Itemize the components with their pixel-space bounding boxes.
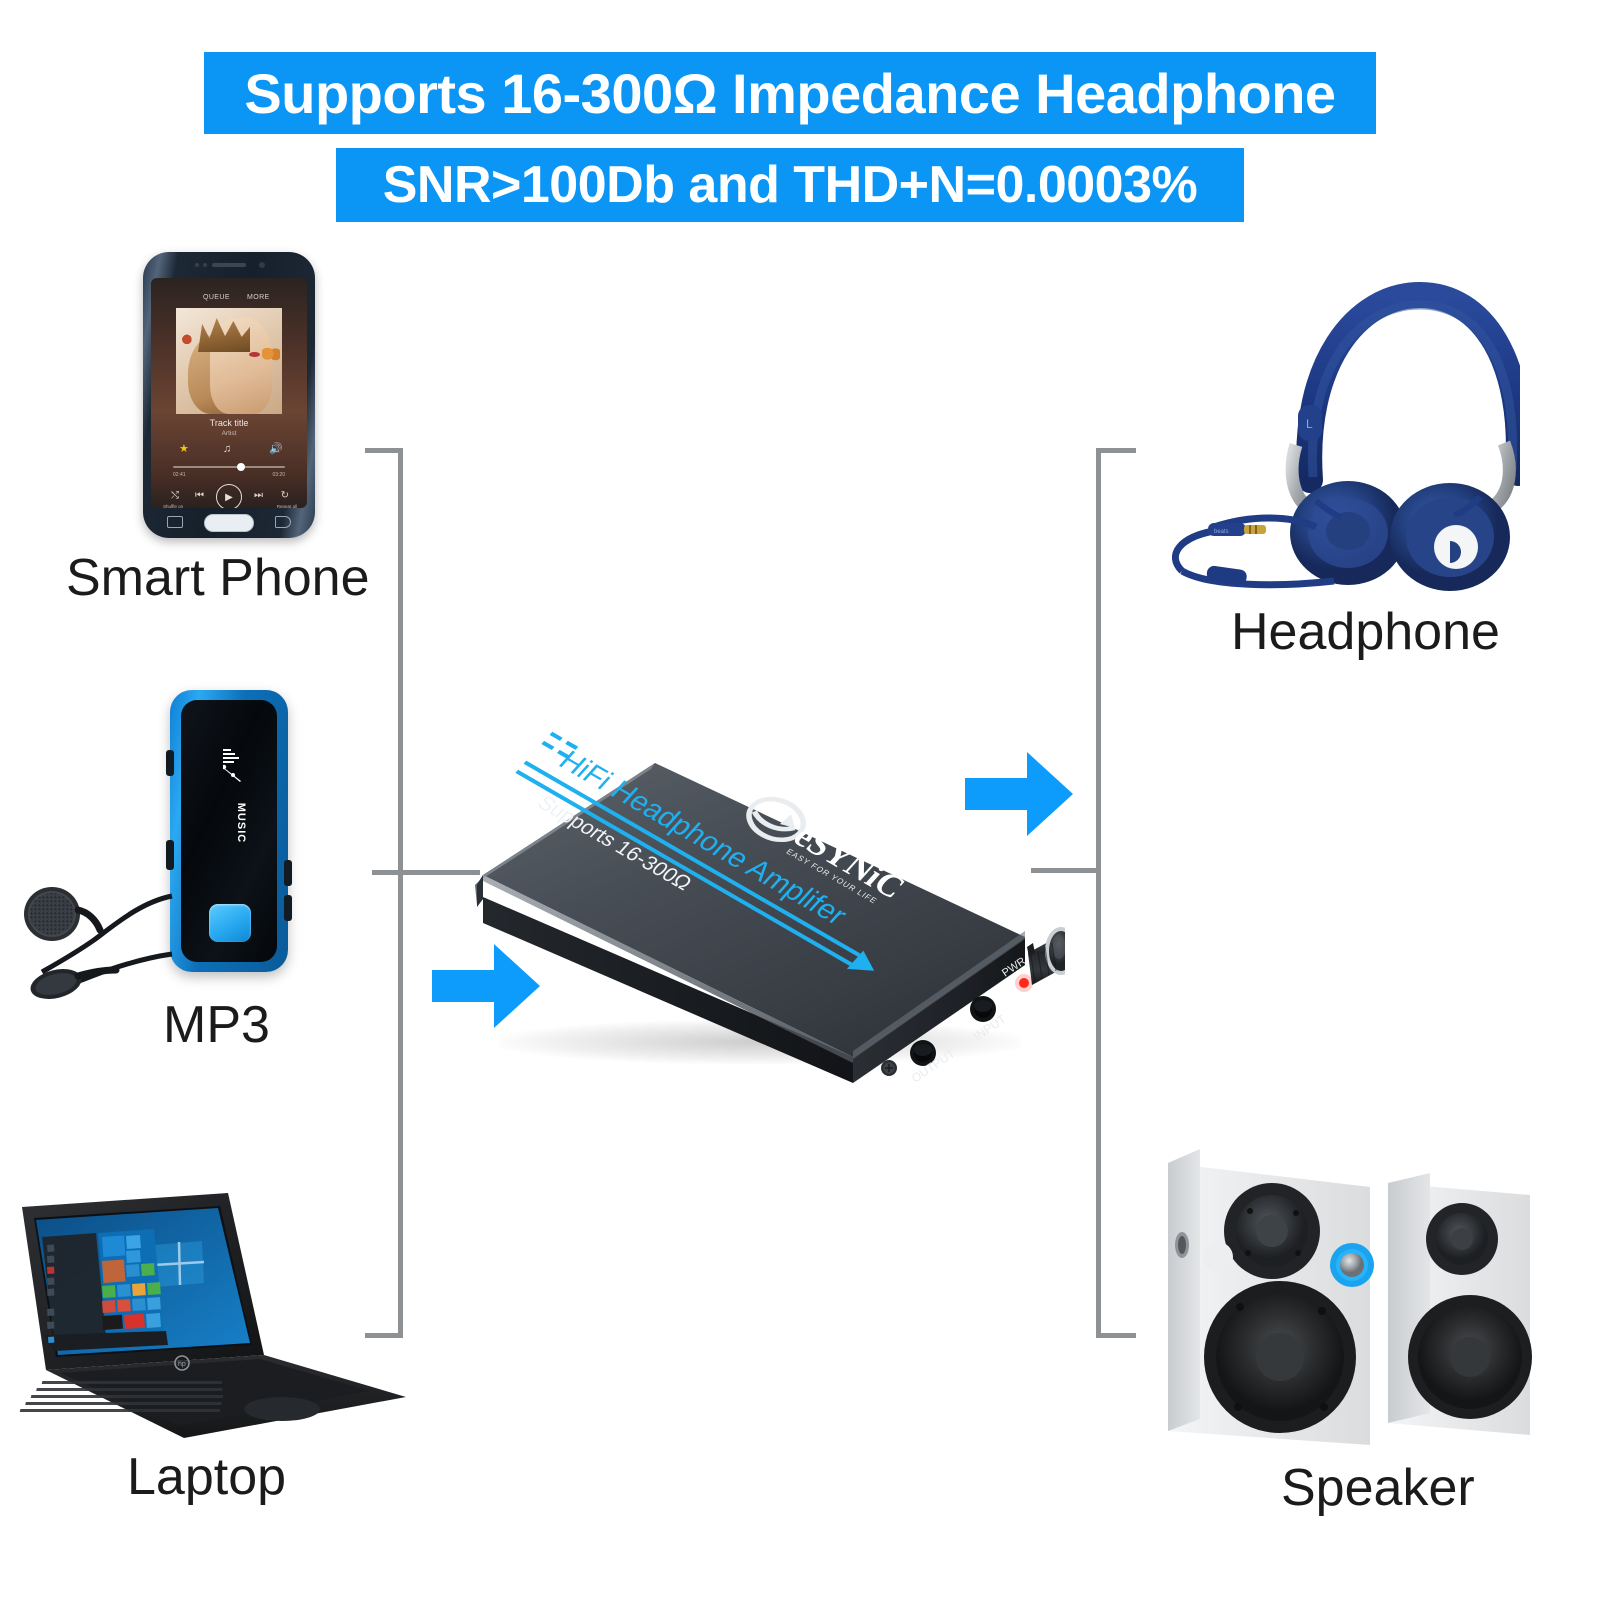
phone-more-button[interactable]: MORE <box>247 294 270 301</box>
mp3-side-button-4[interactable] <box>284 895 292 921</box>
label-laptop: Laptop <box>127 1447 286 1507</box>
left-bracket-top-stub <box>365 448 403 453</box>
banner-impedance: Supports 16-300Ω Impedance Headphone <box>204 52 1376 134</box>
phone-sensor2-icon <box>203 263 207 267</box>
mp3-side-button-3[interactable] <box>284 860 292 886</box>
time-elapsed: 02:41 <box>173 472 186 478</box>
phone-recents-key[interactable] <box>167 516 183 528</box>
phone-back-key[interactable] <box>275 516 291 528</box>
mp3-screen: MUSIC <box>181 700 277 962</box>
previous-track-button[interactable]: ⏮ <box>195 490 204 501</box>
phone-front-camera-icon <box>259 262 265 268</box>
smart-phone-device: QUEUE MORE Track title Artist ★ ♫ 🔊 02:4… <box>143 252 315 538</box>
phone-queue-button[interactable]: QUEUE <box>203 294 230 301</box>
headphone-device: L beats <box>1120 265 1520 595</box>
shuffle-button[interactable]: ⤭ <box>171 490 179 501</box>
left-bracket-mid-stub <box>372 870 480 875</box>
album-art-butterfly-icon <box>262 348 280 362</box>
phone-screen: QUEUE MORE Track title Artist ★ ♫ 🔊 02:4… <box>151 278 307 508</box>
label-smart-phone: Smart Phone <box>66 548 370 608</box>
next-track-button[interactable]: ⏭ <box>254 490 263 501</box>
infographic-canvas: Supports 16-300Ω Impedance Headphone SNR… <box>0 0 1600 1600</box>
mp3-equalizer-icon <box>223 748 243 784</box>
headphone-amplifier-device: eSYNiC EASY FOR YOUR LIFE HiFi Headphone… <box>465 685 1065 1085</box>
banner-snr-thd: SNR>100Db and THD+N=0.0003% <box>336 148 1244 222</box>
time-total: 03:20 <box>272 472 285 478</box>
favorite-star-icon[interactable]: ★ <box>179 444 189 455</box>
repeat-label: Repeat all <box>277 504 297 508</box>
track-title: Track title <box>151 418 307 428</box>
earbuds <box>22 880 182 1000</box>
play-button[interactable]: ▶ <box>216 484 242 508</box>
phone-home-key[interactable] <box>204 514 254 532</box>
svg-text:hp: hp <box>178 1361 186 1368</box>
track-artist: Artist <box>151 430 307 437</box>
label-headphone: Headphone <box>1231 602 1500 662</box>
speaker-pair <box>1130 1135 1550 1455</box>
equalizer-icon[interactable]: ♫ <box>223 444 231 455</box>
progress-slider[interactable] <box>173 466 285 468</box>
shuffle-label: Shuffle on <box>163 504 183 508</box>
album-art-butterfly2-icon <box>182 334 196 346</box>
laptop-device: hp <box>14 1185 414 1440</box>
album-art <box>176 308 282 414</box>
label-mp3: MP3 <box>163 995 270 1055</box>
svg-text:beats: beats <box>1214 529 1229 535</box>
svg-text:L: L <box>1306 417 1313 431</box>
mp3-player-device: MUSIC <box>170 690 288 972</box>
phone-earpiece <box>212 263 246 267</box>
mp3-side-button-2[interactable] <box>166 840 174 870</box>
mp3-screen-text: MUSIC <box>196 793 277 853</box>
album-art-lips <box>249 352 260 357</box>
progress-slider-knob[interactable] <box>237 463 245 471</box>
mp3-main-button[interactable] <box>209 904 251 942</box>
mp3-side-button-1[interactable] <box>166 750 174 776</box>
repeat-button[interactable]: ↻ <box>281 490 289 501</box>
volume-knob <box>1027 927 1065 985</box>
phone-top-bezel <box>143 252 315 278</box>
right-bracket-vertical <box>1096 448 1101 1338</box>
volume-icon[interactable]: 🔊 <box>269 444 283 455</box>
label-speaker: Speaker <box>1281 1458 1475 1518</box>
phone-sensor-icon <box>195 263 199 267</box>
